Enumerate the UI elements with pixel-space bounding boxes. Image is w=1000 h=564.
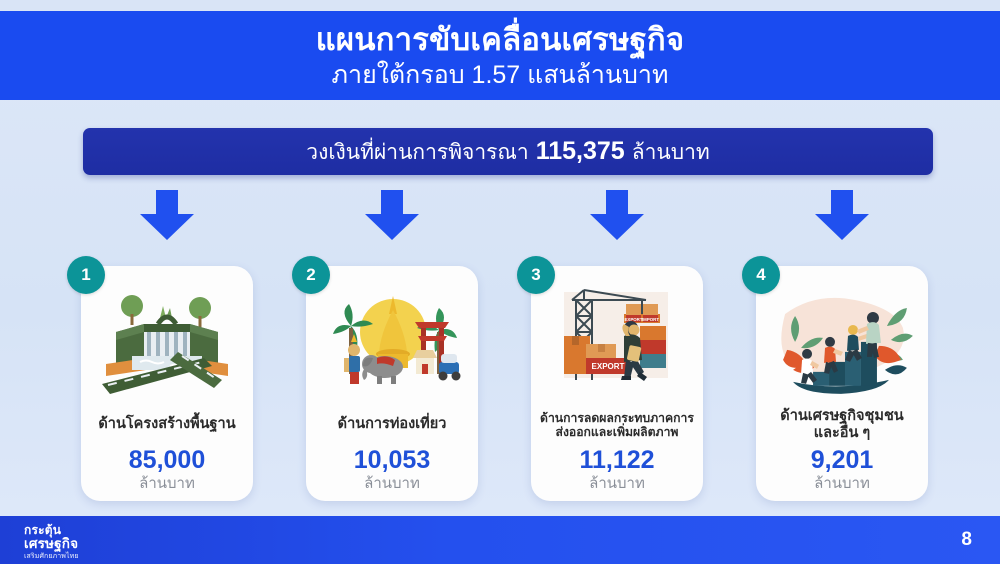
arrow-head — [815, 214, 869, 240]
banner-prefix-label: วงเงินที่ผ่านการพิจารณา — [306, 142, 528, 163]
card-unit-label: ล้านบาท — [139, 476, 195, 491]
brand-logo: กระตุ้น เศรษฐกิจ เสริมศักยภาพไทย — [24, 524, 79, 560]
export-crane-cargo-illustration: EXPORT IMPORT EXPORT — [542, 284, 692, 402]
svg-text:EXPORT: EXPORT — [624, 317, 642, 322]
card-badge-number: 2 — [292, 256, 330, 294]
arrow-shaft — [156, 190, 178, 216]
arrow-head — [590, 214, 644, 240]
category-card-tourism[interactable]: 2 — [306, 266, 478, 501]
arrow-shaft — [606, 190, 628, 216]
approved-budget-banner: วงเงินที่ผ่านการพิจารณา 115,375 ล้านบาท — [83, 128, 933, 175]
category-card-row: 1 — [0, 258, 1000, 503]
card-badge-number: 3 — [517, 256, 555, 294]
card-title: ด้านการท่องเที่ยว — [314, 408, 470, 442]
top-strip — [0, 0, 1000, 11]
dam-and-road-illustration — [92, 284, 242, 402]
arrow-down-icon — [365, 190, 419, 240]
brand-logo-tagline: เสริมศักยภาพไทย — [24, 553, 79, 560]
banner-amount-value: 115,375 — [536, 139, 625, 164]
slide-root: แผนการขับเคลื่อนเศรษฐกิจ ภายใต้กรอบ 1.57… — [0, 0, 1000, 564]
card-unit-label: ล้านบาท — [364, 476, 420, 491]
arrow-down-icon — [590, 190, 644, 240]
category-card-infrastructure[interactable]: 1 — [81, 266, 253, 501]
pagoda-elephant-tuktuk-illustration — [317, 284, 467, 402]
slide-header: แผนการขับเคลื่อนเศรษฐกิจ ภายใต้กรอบ 1.57… — [0, 11, 1000, 100]
card-amount: 11,122 — [579, 448, 654, 473]
category-card-export-productivity[interactable]: 3 EXPORT IMPORT — [531, 266, 703, 501]
arrow-down-icon — [815, 190, 869, 240]
card-amount: 10,053 — [354, 448, 430, 473]
arrow-row — [0, 190, 1000, 245]
card-title: ด้านโครงสร้างพื้นฐาน — [89, 408, 245, 442]
arrow-shaft — [831, 190, 853, 216]
card-title: ด้านการลดผลกระทบภาคการ ส่งออกและเพิ่มผลิ… — [539, 408, 695, 442]
arrow-shaft — [381, 190, 403, 216]
page-number: 8 — [961, 529, 972, 551]
svg-text:EXPORT: EXPORT — [592, 362, 625, 371]
card-amount: 9,201 — [811, 448, 874, 473]
banner-text: วงเงินที่ผ่านการพิจารณา 115,375 ล้านบาท — [306, 139, 709, 164]
card-title: ด้านเศรษฐกิจชุมชน และอื่น ๆ — [764, 408, 920, 442]
card-unit-label: ล้านบาท — [589, 476, 645, 491]
category-card-community-economy[interactable]: 4 — [756, 266, 928, 501]
arrow-head — [365, 214, 419, 240]
page-title: แผนการขับเคลื่อนเศรษฐกิจ — [316, 23, 685, 58]
slide-footer: กระตุ้น เศรษฐกิจ เสริมศักยภาพไทย 8 — [0, 516, 1000, 564]
brand-logo-line1: กระตุ้น — [24, 524, 79, 536]
banner-suffix-label: ล้านบาท — [632, 142, 710, 163]
card-badge-number: 4 — [742, 256, 780, 294]
card-badge-number: 1 — [67, 256, 105, 294]
card-amount: 85,000 — [129, 448, 205, 473]
arrow-head — [140, 214, 194, 240]
arrow-down-icon — [140, 190, 194, 240]
page-subtitle: ภายใต้กรอบ 1.57 แสนล้านบาท — [332, 60, 669, 90]
brand-logo-line2: เศรษฐกิจ — [24, 537, 79, 551]
card-unit-label: ล้านบาท — [814, 476, 870, 491]
svg-text:IMPORT: IMPORT — [642, 317, 659, 322]
people-climbing-stairs-illustration — [767, 284, 917, 402]
